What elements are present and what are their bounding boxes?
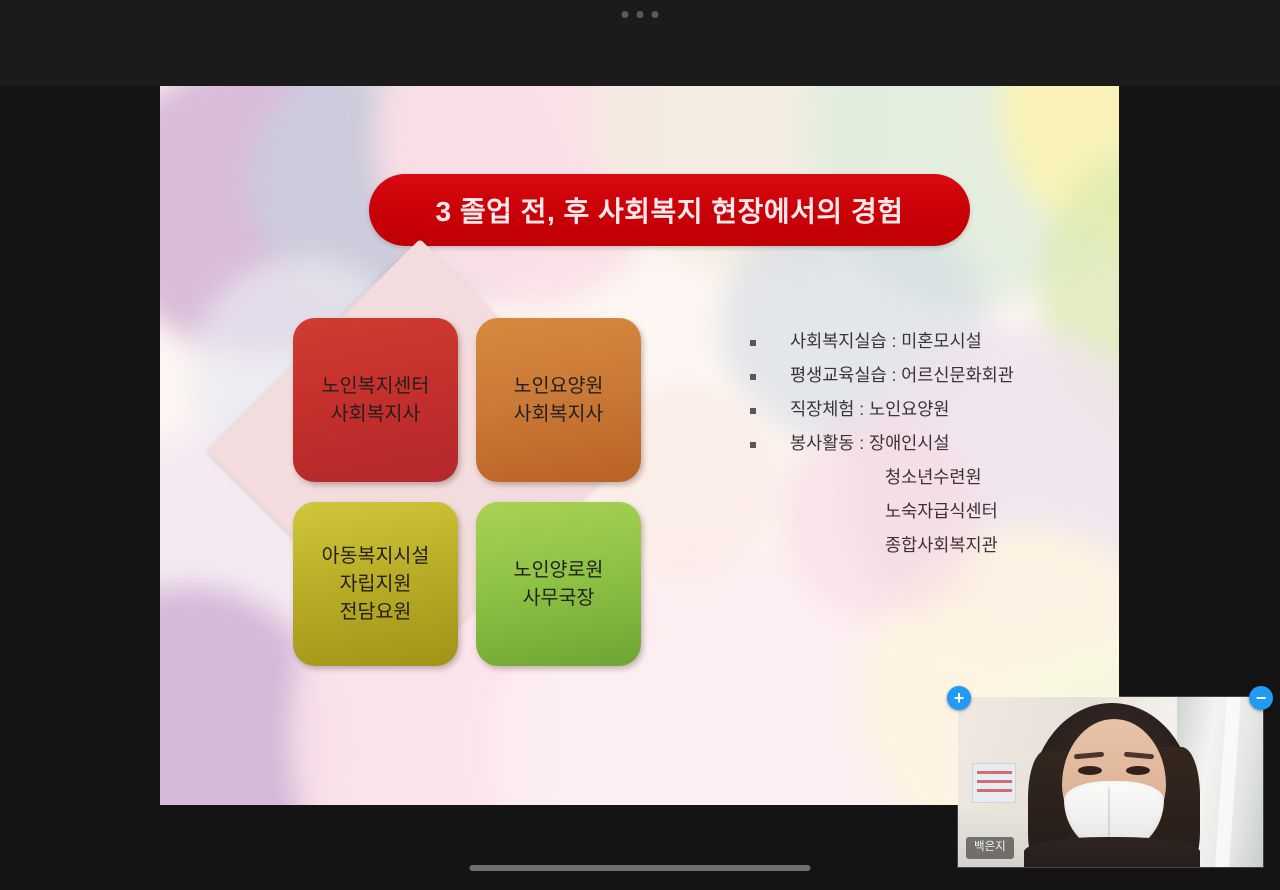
square-bullet-icon [750,340,756,346]
career-box-line: 사회복지사 [514,400,604,428]
square-bullet-icon [750,374,756,380]
dot-3 [652,11,659,18]
bullet-subline: 노숙자급식센터 [745,498,1095,532]
bullet-subline: 청소년수련원 [745,464,1095,498]
zoom-out-icon[interactable]: − [1249,686,1273,710]
career-box-line: 자립지원 [340,570,412,598]
list-item: 사회복지실습 : 미혼모시설 [745,328,1095,362]
career-box-line: 노인복지센터 [322,372,430,400]
slide-title: 3 졸업 전, 후 사회복지 현장에서의 경험 [436,190,904,230]
more-dots-icon[interactable] [616,7,665,22]
zoom-in-icon[interactable]: + [947,686,971,710]
person-shoulders [1024,837,1200,867]
person-eye-left [1078,766,1102,775]
video-feed[interactable]: 백은지 [958,697,1263,867]
participant-name-label: 백은지 [966,837,1014,859]
square-bullet-icon [750,408,756,414]
career-box-line: 사회복지사 [331,400,421,428]
bullet-text: 평생교육실습 : 어르신문화회관 [790,362,1014,387]
career-box-line: 아동복지시설 [322,542,430,570]
list-item: 봉사활동 : 장애인시설 [745,430,1095,464]
career-box-line: 노인요양원 [514,372,604,400]
career-box-line: 노인양로원 [514,556,604,584]
career-box-top-right: 노인요양원 사회복지사 [476,318,641,482]
career-box-bottom-right: 노인양로원 사무국장 [476,502,641,666]
bullet-text: 직장체험 : 노인요양원 [790,396,950,421]
list-item: 직장체험 : 노인요양원 [745,396,1095,430]
bullet-text: 봉사활동 : 장애인시설 [790,430,950,455]
experience-bullet-list: 사회복지실습 : 미혼모시설 평생교육실습 : 어르신문화회관 직장체험 : 노… [745,328,1095,566]
career-box-bottom-left: 아동복지시설 자립지원 전담요원 [293,502,458,666]
career-box-top-left: 노인복지센터 사회복지사 [293,318,458,482]
dot-2 [637,11,644,18]
list-item: 평생교육실습 : 어르신문화회관 [745,362,1095,396]
dot-1 [622,11,629,18]
bullet-subline: 종합사회복지관 [745,532,1095,566]
career-box-grid: 노인복지센터 사회복지사 노인요양원 사회복지사 아동복지시설 자립지원 전담요… [293,318,641,666]
home-indicator-bar[interactable] [470,865,811,871]
slide-title-banner: 3 졸업 전, 후 사회복지 현장에서의 경험 [369,174,970,246]
window-top-bar [0,0,1280,86]
bullet-text: 사회복지실습 : 미혼모시설 [790,328,982,353]
video-wall-poster [972,763,1016,803]
participant-video-tile[interactable]: 백은지 + − [958,697,1263,867]
square-bullet-icon [750,442,756,448]
person-eye-right [1126,766,1150,775]
career-box-line: 사무국장 [523,584,595,612]
career-box-line: 전담요원 [340,598,412,626]
